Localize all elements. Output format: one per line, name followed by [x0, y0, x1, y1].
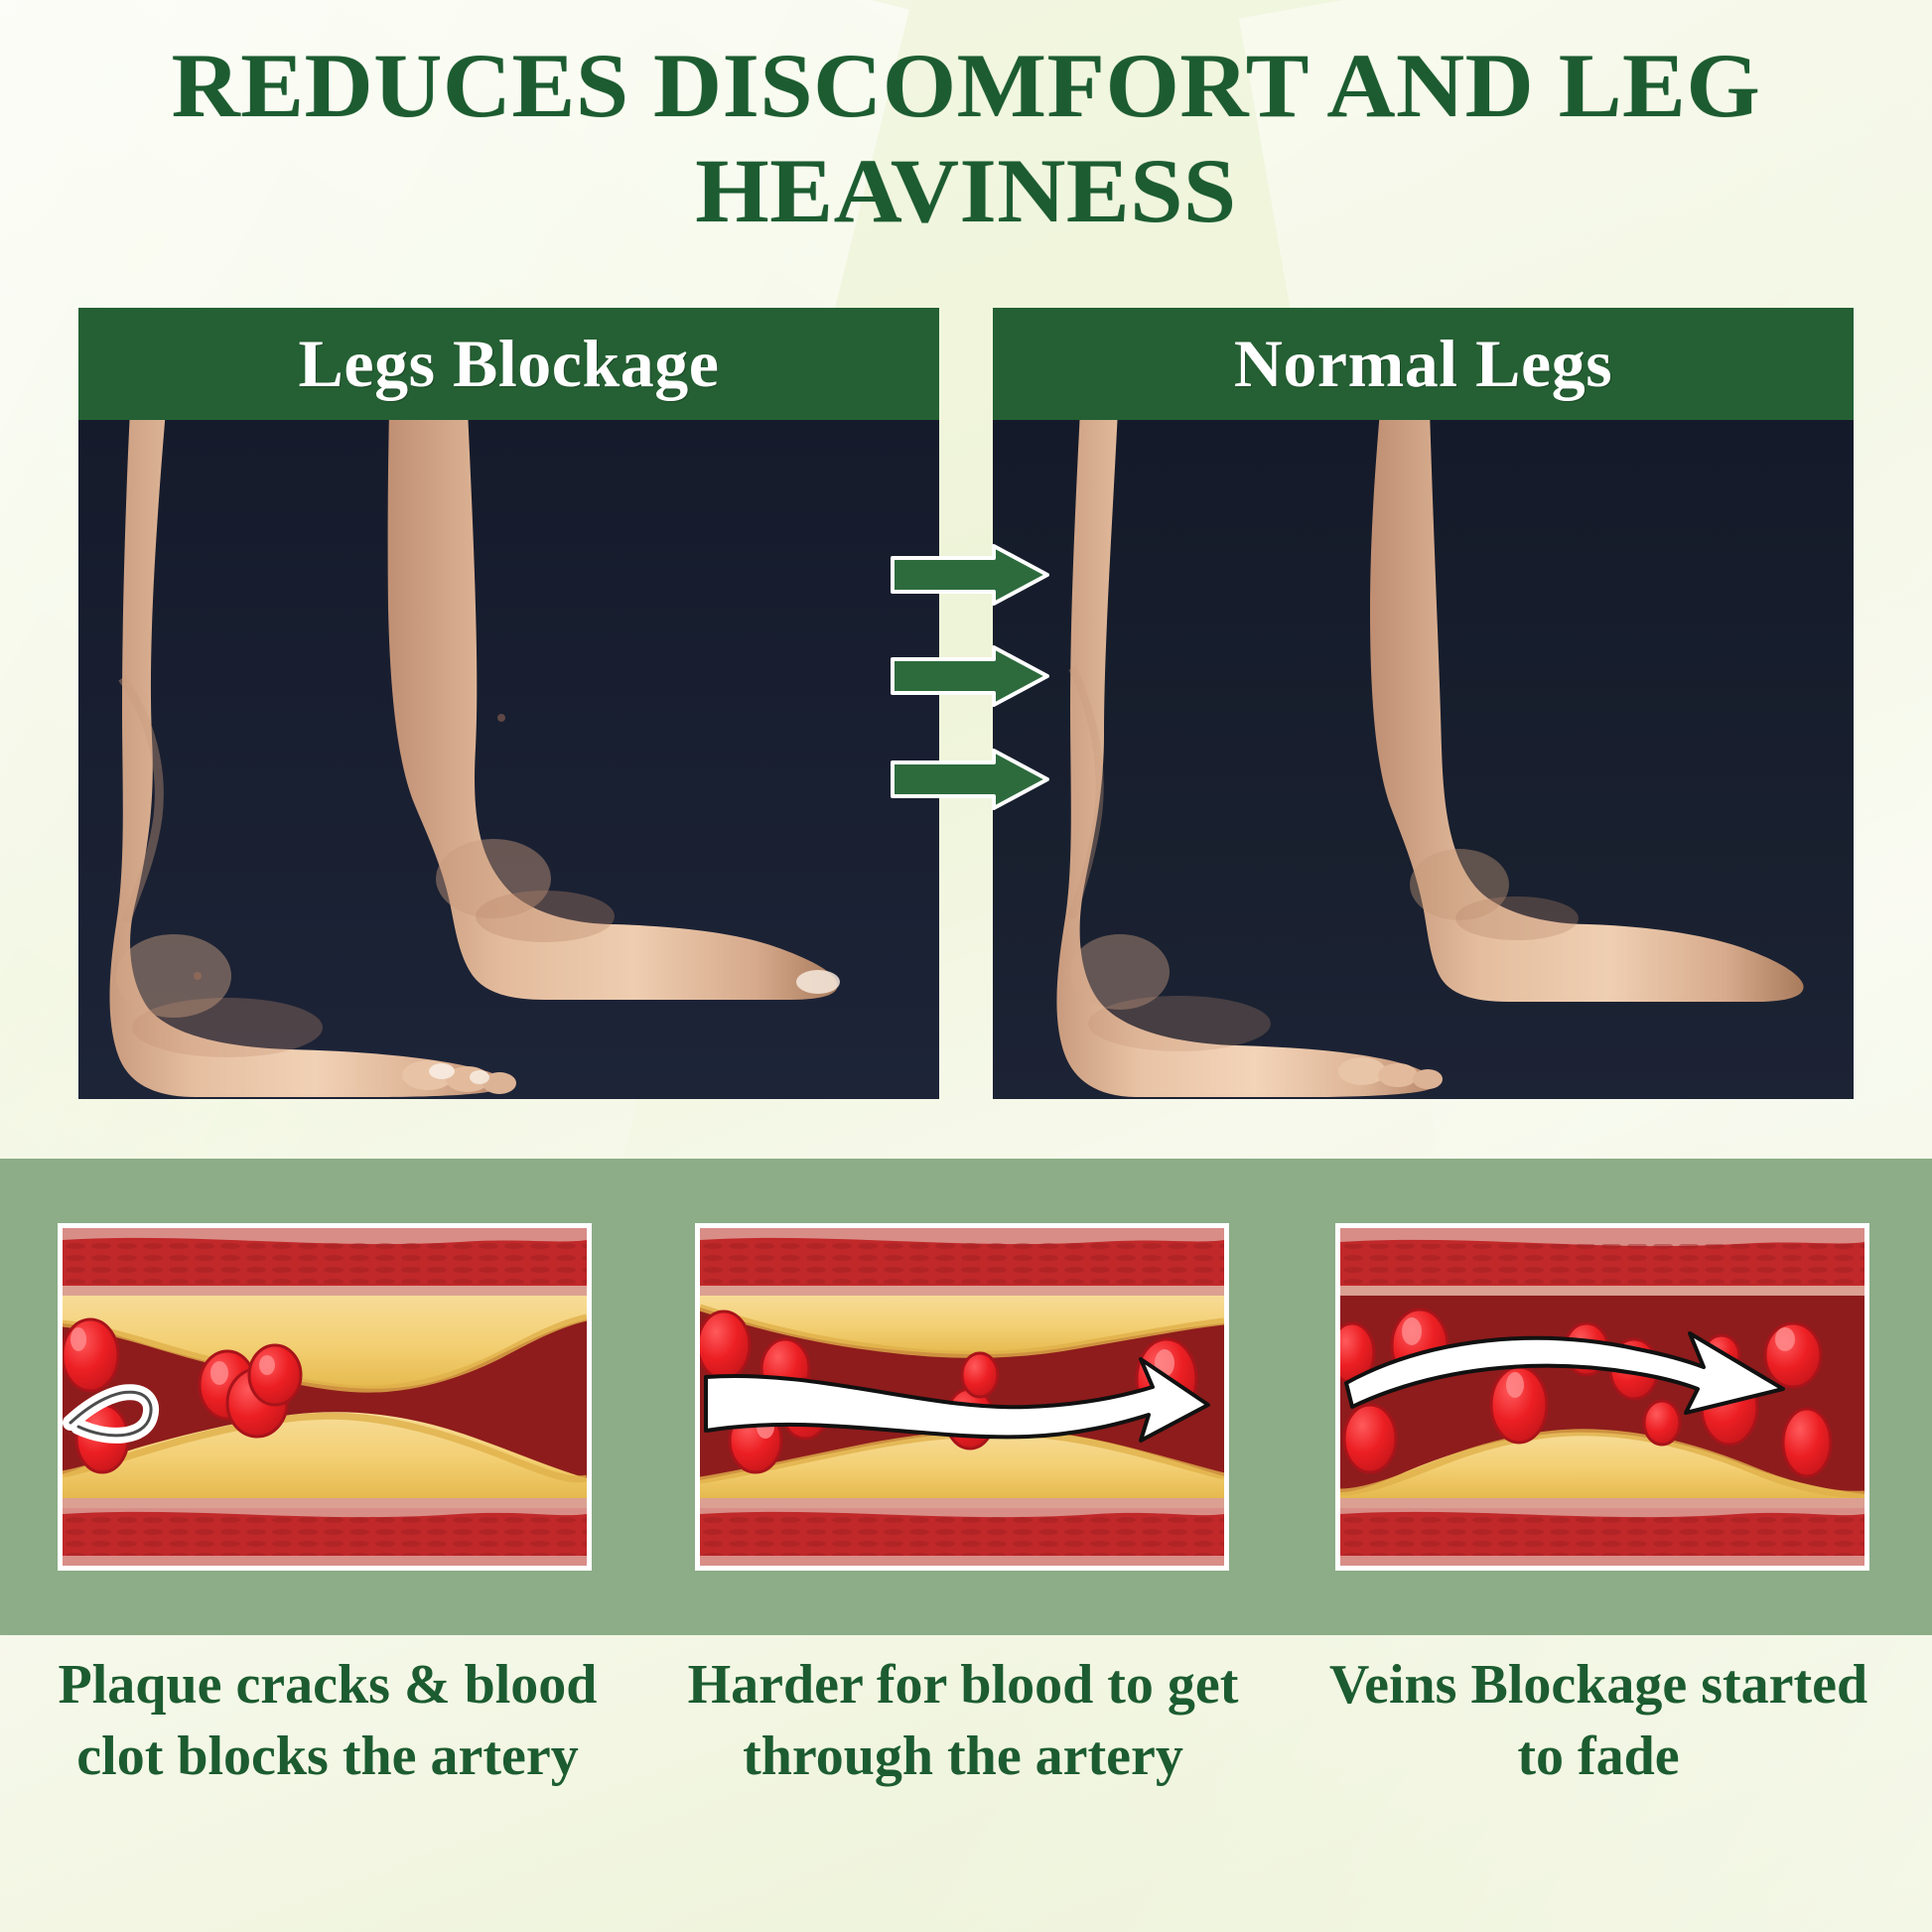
- stage-caption-2: Harder for blood to get through the arte…: [685, 1650, 1241, 1792]
- stage-caption-1: Plaque cracks & blood clot blocks the ar…: [50, 1650, 606, 1792]
- artery-diagrams: [0, 1223, 1932, 1571]
- comparison-left-column: Legs Blockage: [78, 308, 939, 1099]
- artery-diagram-narrowed: [695, 1223, 1229, 1571]
- poster-root: REDUCES DISCOMFORT AND LEG HEAVINESS Leg…: [0, 0, 1932, 1932]
- photo-legs-blockage: [78, 420, 939, 1099]
- page-title: REDUCES DISCOMFORT AND LEG HEAVINESS: [0, 34, 1932, 244]
- photo-normal-legs: [993, 420, 1854, 1099]
- banner-legs-blockage: Legs Blockage: [78, 308, 939, 420]
- artery-diagram-clearing: [1335, 1223, 1869, 1571]
- stage-caption-3: Veins Blockage started to fade: [1320, 1650, 1876, 1792]
- comparison-right-column: Normal Legs: [993, 308, 1854, 1099]
- artery-diagram-blocked: [58, 1223, 592, 1571]
- stage-captions: Plaque cracks & blood clot blocks the ar…: [0, 1650, 1932, 1932]
- banner-normal-legs: Normal Legs: [993, 308, 1854, 420]
- comparison-section: Legs Blockage: [78, 308, 1854, 1099]
